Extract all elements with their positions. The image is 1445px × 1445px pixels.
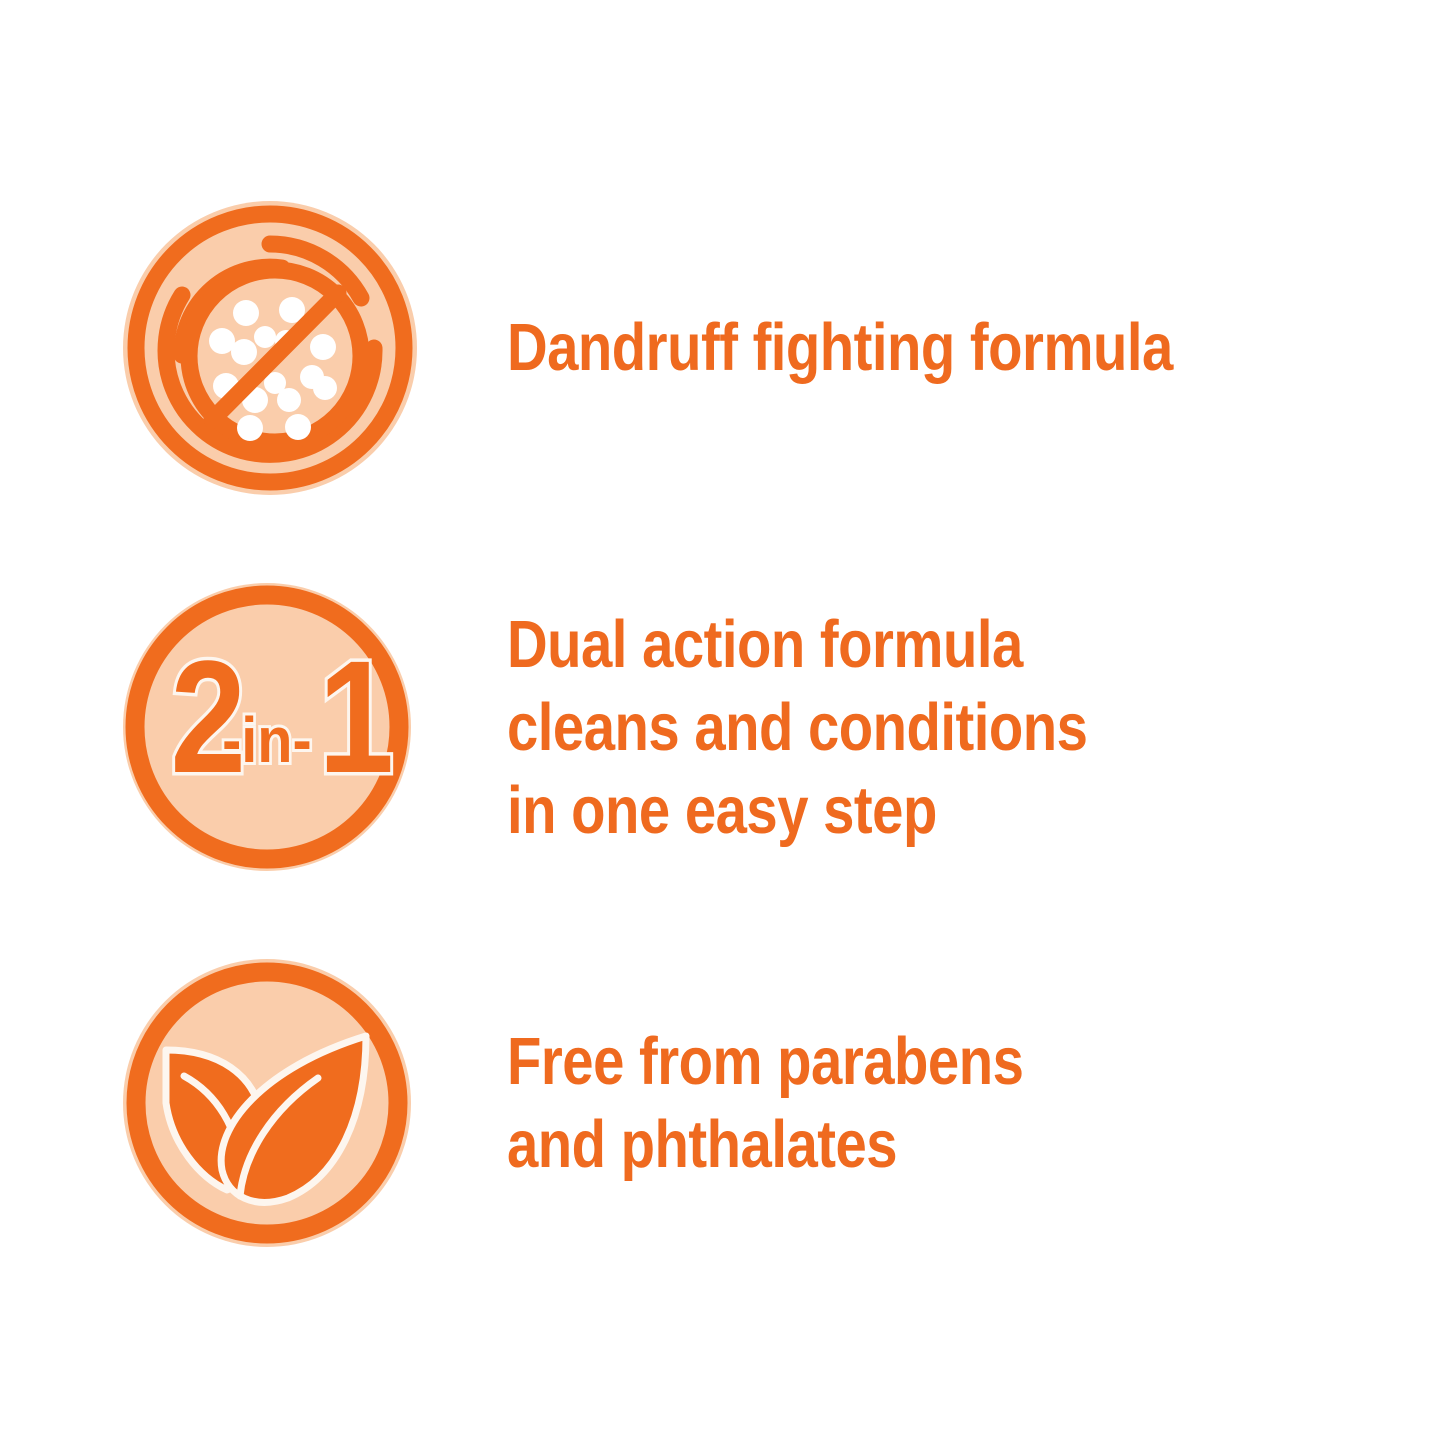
feature-label: Dandruff fighting formula [507, 306, 1295, 389]
two-in-one-badge-icon-svg: 2 -in- 1 [122, 582, 412, 872]
no-dandruff-flakes-icon-svg [122, 200, 418, 496]
benefits-panel: Dandruff fighting formula 2 -in- 1 Dual … [0, 0, 1445, 1445]
feature-label: Dual action formula cleans and condition… [507, 603, 1295, 852]
feature-row: Dandruff fighting formula [0, 190, 1445, 505]
leaves-natural-icon [122, 958, 422, 1248]
feature-label: Free from parabens and phthalates [507, 1020, 1295, 1186]
two-in-one-separator: -in- [222, 704, 312, 775]
feature-row: 2 -in- 1 Dual action formula cleans and … [0, 572, 1445, 882]
two-in-one-badge-icon: 2 -in- 1 [122, 582, 422, 872]
feature-row: Free from parabens and phthalates [0, 948, 1445, 1258]
no-dandruff-flakes-icon [122, 200, 422, 496]
leaves-natural-icon-svg [122, 958, 412, 1248]
two-in-one-digit-1: 1 [318, 629, 394, 807]
